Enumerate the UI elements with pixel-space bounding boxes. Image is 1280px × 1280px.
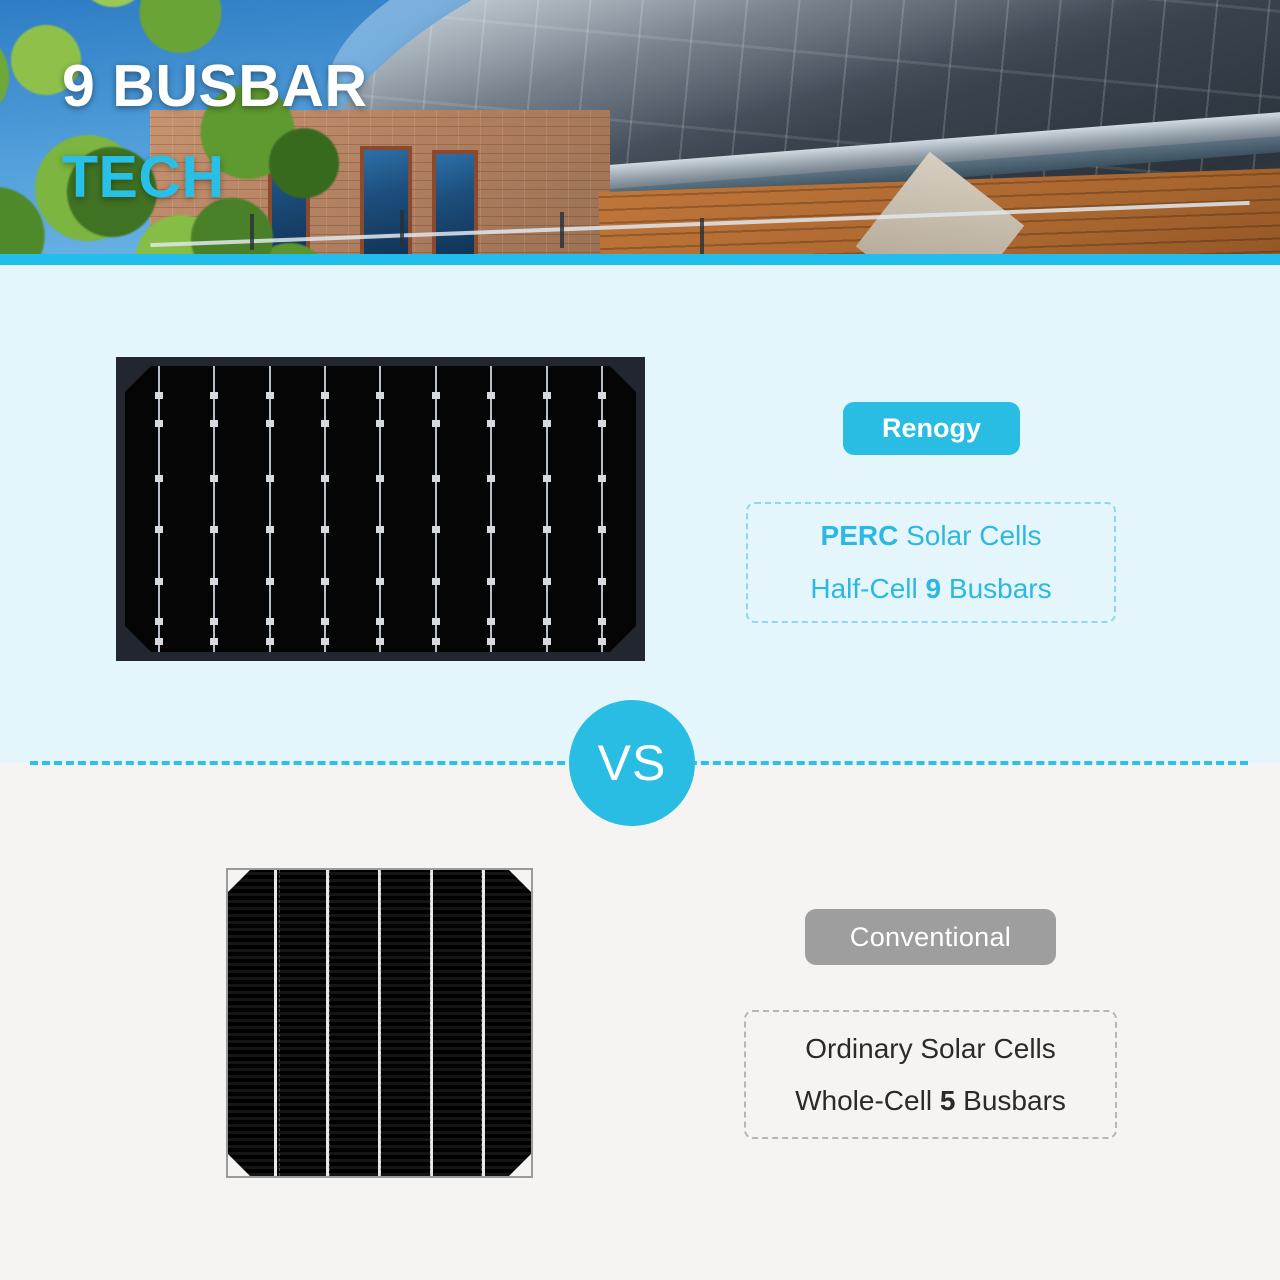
renogy-spec-line-2: Half-Cell 9 Busbars bbox=[810, 575, 1051, 603]
versus-label: VS bbox=[598, 734, 667, 792]
window-right bbox=[432, 150, 478, 256]
busbar-solder-pad bbox=[321, 420, 329, 427]
busbar-solder-pad bbox=[321, 392, 329, 399]
renogy-solar-cell-image bbox=[116, 357, 645, 661]
busbar-solder-pad bbox=[155, 526, 163, 533]
busbar-solder-pad bbox=[210, 638, 218, 645]
busbar-solder-pad bbox=[376, 526, 384, 533]
busbar-solder-pad bbox=[266, 638, 274, 645]
busbar-solder-pad bbox=[155, 578, 163, 585]
conventional-brand-badge[interactable]: Conventional bbox=[805, 909, 1056, 965]
versus-badge: VS bbox=[569, 700, 695, 826]
renogy-busbar bbox=[158, 366, 160, 652]
busbar-solder-pad bbox=[432, 392, 440, 399]
busbar-solder-pad bbox=[155, 392, 163, 399]
busbar-solder-pad bbox=[598, 578, 606, 585]
busbar-solder-pad bbox=[266, 475, 274, 482]
conventional-spec-2-pre: Whole-Cell bbox=[795, 1085, 940, 1116]
renogy-spec-line-1: PERC Solar Cells bbox=[821, 522, 1042, 550]
railing-post bbox=[700, 218, 704, 254]
renogy-spec-1-strong: PERC bbox=[821, 520, 899, 551]
busbar-solder-pad bbox=[210, 578, 218, 585]
busbar-solder-pad bbox=[598, 392, 606, 399]
busbar-solder-pad bbox=[321, 618, 329, 625]
renogy-spec-2-post: Busbars bbox=[941, 573, 1052, 604]
renogy-spec-1-rest: Solar Cells bbox=[898, 520, 1041, 551]
conv-cell-chamfer-bottom-right bbox=[509, 1154, 531, 1176]
page-title: 9 BUSBAR TECH bbox=[62, 58, 368, 205]
railing-post bbox=[400, 210, 404, 246]
conventional-gridline bbox=[481, 870, 482, 1176]
conv-cell-chamfer-bottom-left bbox=[228, 1154, 250, 1176]
renogy-busbar bbox=[546, 366, 548, 652]
window-middle bbox=[360, 146, 412, 256]
infographic-page: 9 BUSBAR TECH Renogy PERC Solar Cells Ha… bbox=[0, 0, 1280, 1280]
busbar-solder-pad bbox=[487, 392, 495, 399]
conventional-gridline bbox=[279, 870, 280, 1176]
conv-cell-chamfer-top-left bbox=[228, 870, 250, 892]
busbar-solder-pad bbox=[155, 618, 163, 625]
busbar-solder-pad bbox=[543, 392, 551, 399]
conventional-spec-line-2: Whole-Cell 5 Busbars bbox=[795, 1087, 1066, 1115]
busbar-solder-pad bbox=[432, 618, 440, 625]
busbar-solder-pad bbox=[432, 638, 440, 645]
busbar-solder-pad bbox=[432, 420, 440, 427]
busbar-solder-pad bbox=[376, 392, 384, 399]
busbar-solder-pad bbox=[155, 420, 163, 427]
busbar-solder-pad bbox=[543, 475, 551, 482]
conventional-spec-1-rest: Ordinary Solar Cells bbox=[805, 1033, 1056, 1064]
busbar-solder-pad bbox=[210, 392, 218, 399]
renogy-spec-2-strong: 9 bbox=[926, 573, 942, 604]
busbar-solder-pad bbox=[487, 618, 495, 625]
busbar-solder-pad bbox=[155, 475, 163, 482]
page-title-line-1: 9 BUSBAR bbox=[62, 58, 368, 115]
busbar-solder-pad bbox=[487, 578, 495, 585]
busbar-solder-pad bbox=[543, 420, 551, 427]
busbar-solder-pad bbox=[266, 526, 274, 533]
busbar-solder-pad bbox=[376, 420, 384, 427]
busbar-solder-pad bbox=[266, 578, 274, 585]
renogy-busbar bbox=[324, 366, 326, 652]
busbar-solder-pad bbox=[598, 638, 606, 645]
busbar-solder-pad bbox=[210, 420, 218, 427]
busbar-solder-pad bbox=[543, 638, 551, 645]
conventional-busbar bbox=[482, 870, 485, 1176]
conventional-spec-2-post: Busbars bbox=[955, 1085, 1066, 1116]
busbar-solder-pad bbox=[432, 475, 440, 482]
hero-banner: 9 BUSBAR TECH bbox=[0, 0, 1280, 256]
busbar-solder-pad bbox=[210, 526, 218, 533]
conventional-solar-cell-image bbox=[226, 868, 533, 1178]
renogy-busbar bbox=[213, 366, 215, 652]
busbar-solder-pad bbox=[598, 526, 606, 533]
busbar-solder-pad bbox=[598, 475, 606, 482]
railing-post bbox=[560, 212, 564, 248]
busbar-solder-pad bbox=[266, 618, 274, 625]
conventional-gridline bbox=[329, 870, 330, 1176]
railing-post bbox=[250, 214, 254, 250]
conventional-busbar bbox=[274, 870, 277, 1176]
renogy-spec-box: PERC Solar Cells Half-Cell 9 Busbars bbox=[746, 502, 1116, 623]
conv-cell-chamfer-top-right bbox=[509, 870, 531, 892]
renogy-busbar bbox=[490, 366, 492, 652]
busbar-solder-pad bbox=[210, 618, 218, 625]
renogy-busbar bbox=[601, 366, 603, 652]
conventional-gridline bbox=[430, 870, 431, 1176]
busbar-solder-pad bbox=[376, 618, 384, 625]
busbar-solder-pad bbox=[266, 392, 274, 399]
renogy-spec-2-pre: Half-Cell bbox=[810, 573, 925, 604]
busbar-solder-pad bbox=[598, 420, 606, 427]
conventional-gridline bbox=[380, 870, 381, 1176]
renogy-busbar-group bbox=[125, 366, 636, 652]
busbar-solder-pad bbox=[543, 526, 551, 533]
busbar-solder-pad bbox=[155, 638, 163, 645]
busbar-solder-pad bbox=[210, 475, 218, 482]
busbar-solder-pad bbox=[432, 526, 440, 533]
busbar-solder-pad bbox=[487, 420, 495, 427]
conventional-spec-2-strong: 5 bbox=[940, 1085, 956, 1116]
conventional-spec-box: Ordinary Solar Cells Whole-Cell 5 Busbar… bbox=[744, 1010, 1117, 1139]
renogy-busbar bbox=[379, 366, 381, 652]
busbar-solder-pad bbox=[376, 475, 384, 482]
busbar-solder-pad bbox=[487, 475, 495, 482]
renogy-busbar bbox=[269, 366, 271, 652]
busbar-solder-pad bbox=[432, 578, 440, 585]
busbar-solder-pad bbox=[321, 526, 329, 533]
renogy-cell-surface bbox=[125, 366, 636, 652]
busbar-solder-pad bbox=[321, 638, 329, 645]
page-title-line-2: TECH bbox=[62, 149, 368, 206]
renogy-brand-badge[interactable]: Renogy bbox=[843, 402, 1020, 455]
renogy-busbar bbox=[435, 366, 437, 652]
busbar-solder-pad bbox=[376, 638, 384, 645]
busbar-solder-pad bbox=[376, 578, 384, 585]
busbar-solder-pad bbox=[543, 578, 551, 585]
busbar-solder-pad bbox=[321, 578, 329, 585]
busbar-solder-pad bbox=[266, 420, 274, 427]
accent-divider-bar bbox=[0, 254, 1280, 265]
conventional-spec-line-1: Ordinary Solar Cells bbox=[805, 1035, 1056, 1063]
busbar-solder-pad bbox=[487, 638, 495, 645]
busbar-solder-pad bbox=[543, 618, 551, 625]
busbar-solder-pad bbox=[487, 526, 495, 533]
busbar-solder-pad bbox=[598, 618, 606, 625]
busbar-solder-pad bbox=[321, 475, 329, 482]
